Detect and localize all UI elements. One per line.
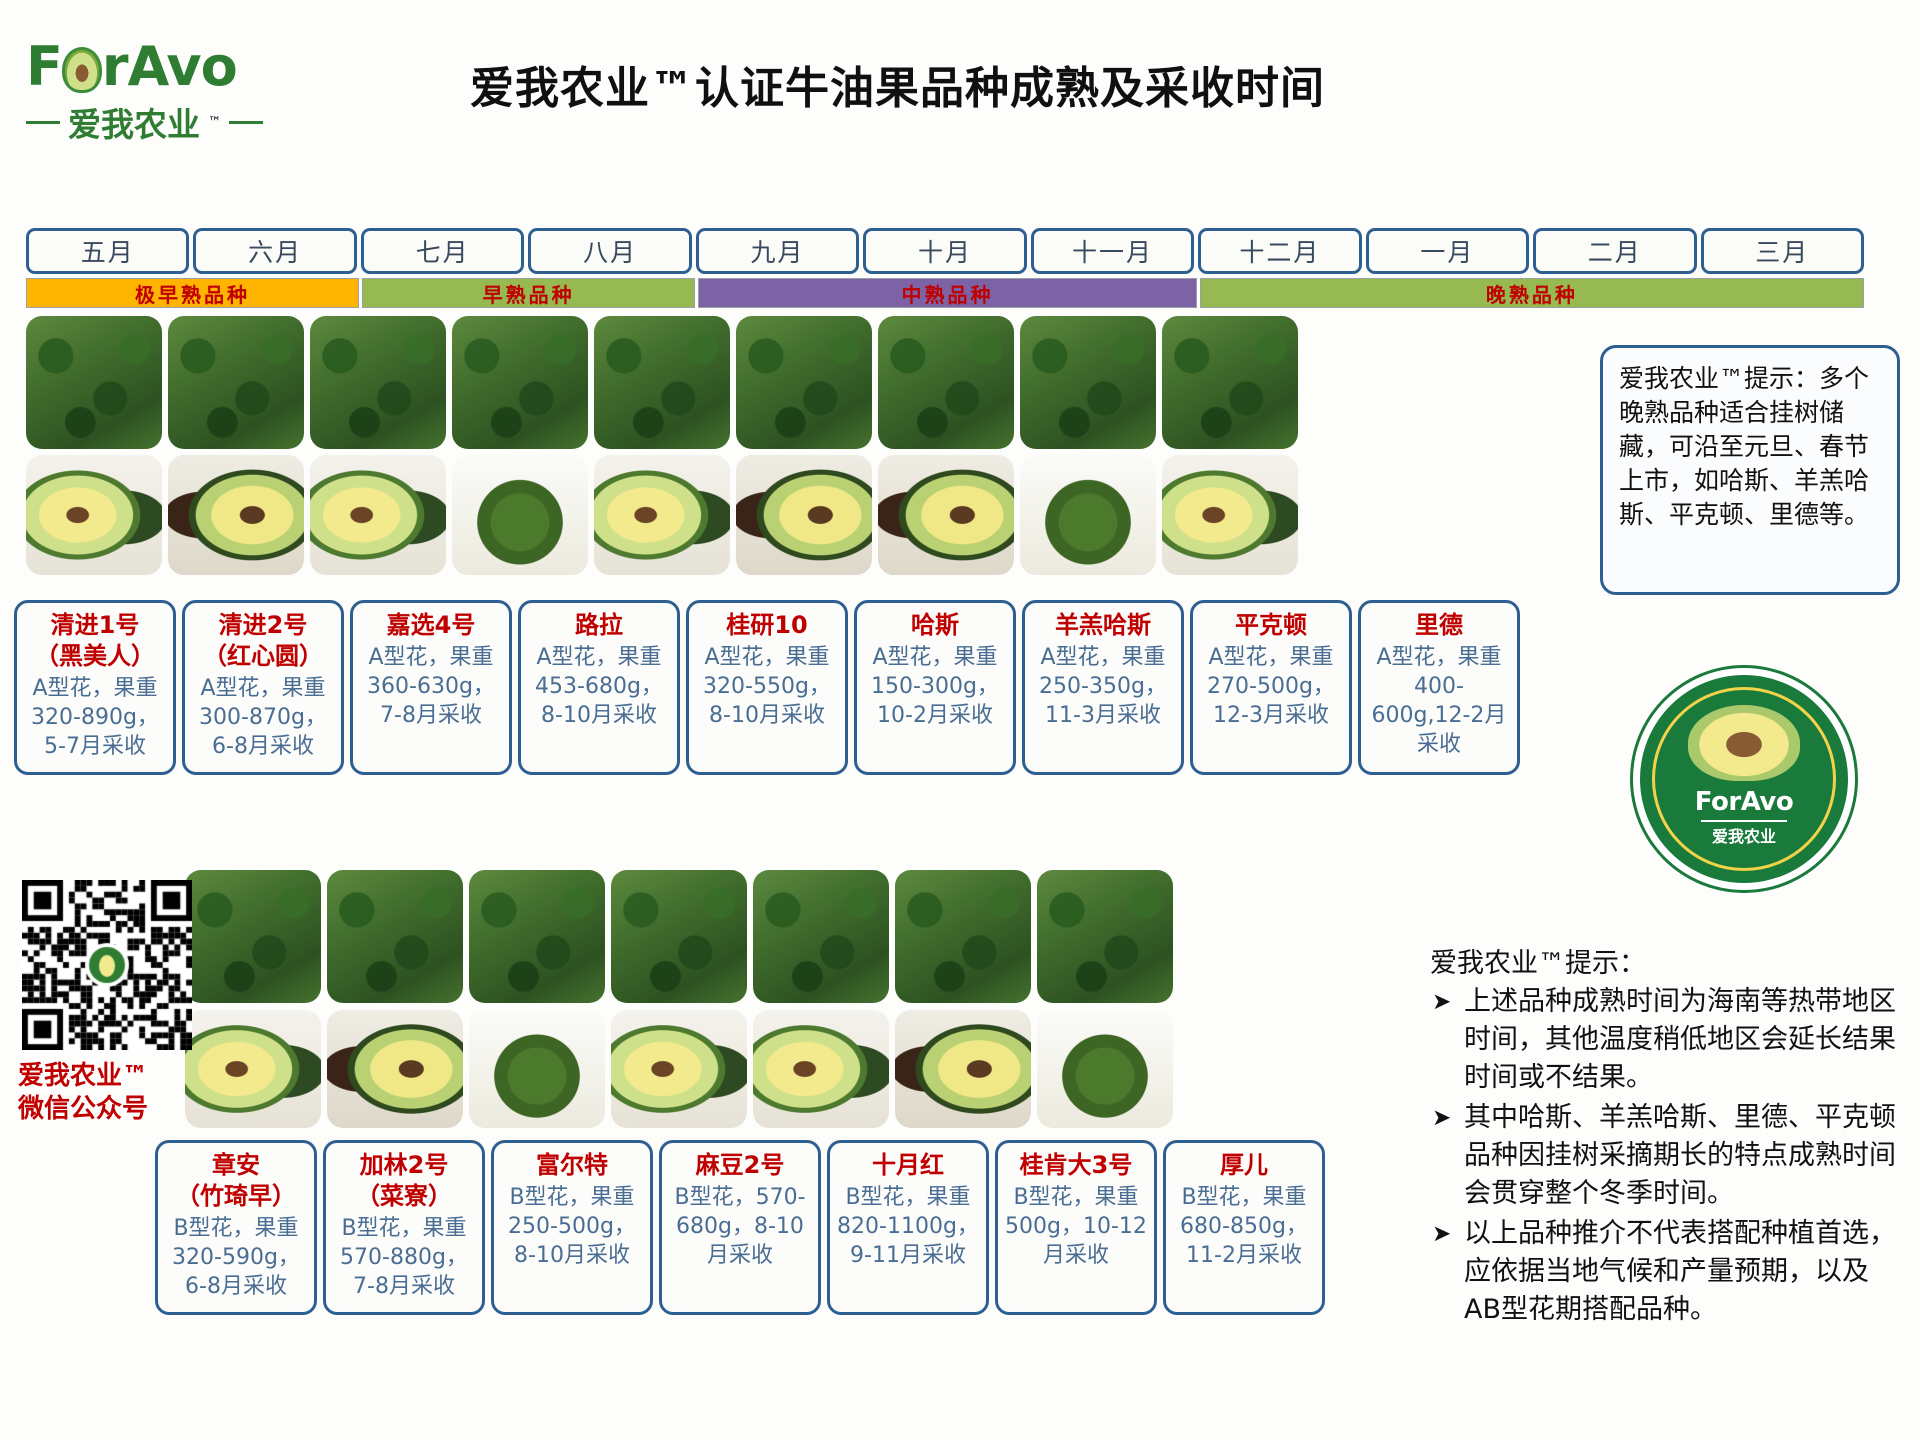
variety-description: A型花，果重320-890g，5-7月采收 <box>23 674 167 761</box>
avocado-fruit-photo <box>1037 1010 1173 1128</box>
avocado-fruit-photo <box>895 1010 1031 1128</box>
infographic-page: FrAvo 爱我农业 ™ 爱我农业™认证牛油果品种成熟及采收时间 五月六月七月八… <box>0 0 1920 1440</box>
variety-description: A型花，果重250-350g，11-3月采收 <box>1031 643 1175 730</box>
row-b-variety-cards: 章安（竹琦早）B型花，果重320-590g，6-8月采收加林2号（菜寮）B型花，… <box>155 1140 1325 1315</box>
row-a-fruit-photos <box>26 455 1298 575</box>
variety-description: B型花，果重320-590g，6-8月采收 <box>164 1214 308 1301</box>
avocado-tree-photo <box>736 316 872 449</box>
variety-card[interactable]: 嘉选4号A型花，果重360-630g，7-8月采收 <box>350 600 512 775</box>
wechat-qr-code[interactable] <box>22 880 192 1050</box>
avocado-tree-photo <box>878 316 1014 449</box>
variety-card[interactable]: 哈斯A型花，果重150-300g，10-2月采收 <box>854 600 1016 775</box>
month-cell: 二月 <box>1533 228 1696 274</box>
avocado-fruit-photo <box>327 1010 463 1128</box>
avocado-fruit-photo <box>753 1010 889 1128</box>
variety-card[interactable]: 清进1号（黑美人）A型花，果重320-890g，5-7月采收 <box>14 600 176 775</box>
ripening-band: 极早熟品种 <box>26 278 359 308</box>
month-cell: 七月 <box>361 228 524 274</box>
avocado-tree-photo <box>1162 316 1298 449</box>
logo-tm-mark: ™ <box>208 115 221 130</box>
logo-rule-left <box>26 121 60 124</box>
avocado-tree-photo <box>611 870 747 1003</box>
avocado-fruit-photo <box>1162 455 1298 575</box>
variety-card[interactable]: 桂肯大3号B型花，果重500g，10-12月采收 <box>995 1140 1157 1315</box>
variety-card[interactable]: 厚儿B型花，果重680-850g，11-2月采收 <box>1163 1140 1325 1315</box>
logo-subline: 爱我农业 ™ <box>26 98 286 146</box>
variety-name: 里德 <box>1415 610 1463 641</box>
avocado-fruit-photo <box>168 455 304 575</box>
avocado-tree-photo <box>895 870 1031 1003</box>
variety-name: 清进1号 <box>51 610 140 641</box>
page-title: 爱我农业™认证牛油果品种成熟及采收时间 <box>470 52 1570 116</box>
avocado-fruit-photo <box>469 1010 605 1128</box>
month-cell: 五月 <box>26 228 189 274</box>
seal-rule <box>1701 820 1787 822</box>
avocado-tree-photo <box>26 316 162 449</box>
avocado-tree-photo <box>1037 870 1173 1003</box>
variety-alias: （竹琦早） <box>176 1181 296 1212</box>
variety-description: B型花，果重820-1100g，9-11月采收 <box>836 1183 980 1270</box>
seal-chinese-name: 爱我农业 <box>1712 823 1776 847</box>
variety-description: A型花，果重320-550g，8-10月采收 <box>695 643 839 730</box>
month-cell: 六月 <box>193 228 356 274</box>
avocado-tree-photo <box>1020 316 1156 449</box>
note-item: 上述品种成熟时间为海南等热带地区时间，其他温度稍低地区会延长结果时间或不结果。 <box>1430 983 1900 1097</box>
variety-name: 桂研10 <box>726 610 807 641</box>
variety-card[interactable]: 桂研10A型花，果重320-550g，8-10月采收 <box>686 600 848 775</box>
month-header-row: 五月六月七月八月九月十月十一月十二月一月二月三月 <box>26 228 1864 274</box>
variety-description: B型花，570-680g，8-10月采收 <box>668 1183 812 1270</box>
ripening-band: 中熟品种 <box>698 278 1197 308</box>
variety-name: 章安 <box>212 1150 260 1181</box>
month-cell: 一月 <box>1366 228 1529 274</box>
month-cell: 十二月 <box>1198 228 1361 274</box>
variety-card[interactable]: 清进2号（红心圆）A型花，果重300-870g，6-8月采收 <box>182 600 344 775</box>
variety-card[interactable]: 富尔特B型花，果重250-500g，8-10月采收 <box>491 1140 653 1315</box>
avocado-fruit-photo <box>185 1010 321 1128</box>
row-a-tree-photos <box>26 316 1298 449</box>
variety-name: 厚儿 <box>1220 1150 1268 1181</box>
variety-card[interactable]: 平克顿A型花，果重270-500g，12-3月采收 <box>1190 600 1352 775</box>
variety-description: A型花，果重150-300g，10-2月采收 <box>863 643 1007 730</box>
variety-description: B型花，果重570-880g，7-8月采收 <box>332 1214 476 1301</box>
variety-alias: （菜寮） <box>356 1181 452 1212</box>
variety-card[interactable]: 麻豆2号B型花，570-680g，8-10月采收 <box>659 1140 821 1315</box>
avocado-tree-photo <box>185 870 321 1003</box>
variety-name: 桂肯大3号 <box>1020 1150 1133 1181</box>
logo-chinese-name: 爱我农业 <box>68 98 200 146</box>
variety-name: 加林2号 <box>360 1150 449 1181</box>
variety-name: 哈斯 <box>911 610 959 641</box>
avocado-fruit-photo <box>736 455 872 575</box>
avocado-tree-photo <box>469 870 605 1003</box>
seal-wordmark: ForAvo <box>1695 787 1793 817</box>
avocado-fruit-photo <box>594 455 730 575</box>
variety-name: 路拉 <box>575 610 623 641</box>
variety-alias: （红心圆） <box>203 641 323 672</box>
avocado-fruit-photo <box>26 455 162 575</box>
variety-name: 清进2号 <box>219 610 308 641</box>
variety-description: A型花，果重400-600g,12-2月采收 <box>1367 643 1511 759</box>
seal-avocado-icon <box>1688 705 1800 781</box>
variety-description: A型花，果重300-870g，6-8月采收 <box>191 674 335 761</box>
variety-name: 平克顿 <box>1235 610 1307 641</box>
variety-name: 富尔特 <box>536 1150 608 1181</box>
note-item: 其中哈斯、羊羔哈斯、里德、平克顿品种因挂树采摘期长的特点成熟时间会贯穿整个冬季时… <box>1430 1099 1900 1213</box>
row-b-tree-photos <box>185 870 1173 1003</box>
avocado-fruit-photo <box>1020 455 1156 575</box>
avocado-fruit-photo <box>310 455 446 575</box>
avocado-tree-photo <box>452 316 588 449</box>
variety-card[interactable]: 路拉A型花，果重453-680g，8-10月采收 <box>518 600 680 775</box>
variety-description: A型花，果重270-500g，12-3月采收 <box>1199 643 1343 730</box>
variety-description: B型花，果重500g，10-12月采收 <box>1004 1183 1148 1270</box>
avocado-o-icon <box>62 47 102 93</box>
avocado-tree-photo <box>594 316 730 449</box>
variety-description: B型花，果重250-500g，8-10月采收 <box>500 1183 644 1270</box>
avocado-tree-photo <box>310 316 446 449</box>
qr-label-line2: 微信公众号 <box>18 1093 148 1126</box>
variety-card[interactable]: 章安（竹琦早）B型花，果重320-590g，6-8月采收 <box>155 1140 317 1315</box>
month-cell: 八月 <box>528 228 691 274</box>
avocado-fruit-photo <box>878 455 1014 575</box>
month-cell: 十一月 <box>1031 228 1194 274</box>
variety-alias: （黑美人） <box>35 641 155 672</box>
qr-label-line1: 爱我农业™ <box>18 1060 148 1093</box>
month-cell: 三月 <box>1701 228 1864 274</box>
notes-list: 上述品种成熟时间为海南等热带地区时间，其他温度稍低地区会延长结果时间或不结果。其… <box>1430 983 1900 1329</box>
logo-rule-right <box>229 121 263 124</box>
avocado-tree-photo <box>753 870 889 1003</box>
row-a-variety-cards: 清进1号（黑美人）A型花，果重320-890g，5-7月采收清进2号（红心圆）A… <box>14 600 1520 775</box>
certification-seal: ForAvo 爱我农业 <box>1640 675 1848 883</box>
qr-label: 爱我农业™ 微信公众号 <box>18 1060 148 1126</box>
variety-card[interactable]: 十月红B型花，果重820-1100g，9-11月采收 <box>827 1140 989 1315</box>
tip-box-late-varieties: 爱我农业™提示：多个晚熟品种适合挂树储藏，可沿至元旦、春节上市，如哈斯、羊羔哈斯… <box>1600 345 1900 595</box>
month-cell: 九月 <box>696 228 859 274</box>
variety-name: 嘉选4号 <box>387 610 476 641</box>
ripening-band-row: 极早熟品种早熟品种中熟品种晚熟品种 <box>26 278 1864 308</box>
avocado-fruit-photo <box>452 455 588 575</box>
note-item: 以上品种推介不代表搭配种植首选，应依据当地气候和产量预期，以及AB型花期搭配品种… <box>1430 1215 1900 1329</box>
footer-notes: 爱我农业™提示： 上述品种成熟时间为海南等热带地区时间，其他温度稍低地区会延长结… <box>1430 945 1900 1331</box>
variety-name: 羊羔哈斯 <box>1055 610 1151 641</box>
avocado-tree-photo <box>327 870 463 1003</box>
logo-wordmark: FrAvo <box>26 38 286 96</box>
ripening-band: 晚熟品种 <box>1200 278 1864 308</box>
variety-description: B型花，果重680-850g，11-2月采收 <box>1172 1183 1316 1270</box>
variety-card[interactable]: 加林2号（菜寮）B型花，果重570-880g，7-8月采收 <box>323 1140 485 1315</box>
variety-card[interactable]: 羊羔哈斯A型花，果重250-350g，11-3月采收 <box>1022 600 1184 775</box>
tip-box-text: 爱我农业™提示：多个晚熟品种适合挂树储藏，可沿至元旦、春节上市，如哈斯、羊羔哈斯… <box>1619 362 1881 532</box>
row-b-fruit-photos <box>185 1010 1173 1128</box>
variety-card[interactable]: 里德A型花，果重400-600g,12-2月采收 <box>1358 600 1520 775</box>
avocado-tree-photo <box>168 316 304 449</box>
avocado-fruit-photo <box>611 1010 747 1128</box>
variety-name: 十月红 <box>872 1150 944 1181</box>
variety-name: 麻豆2号 <box>696 1150 785 1181</box>
ripening-band: 早熟品种 <box>362 278 695 308</box>
notes-heading: 爱我农业™提示： <box>1430 945 1900 983</box>
month-cell: 十月 <box>863 228 1026 274</box>
variety-description: A型花，果重453-680g，8-10月采收 <box>527 643 671 730</box>
variety-description: A型花，果重360-630g，7-8月采收 <box>359 643 503 730</box>
brand-logo: FrAvo 爱我农业 ™ <box>26 38 286 143</box>
